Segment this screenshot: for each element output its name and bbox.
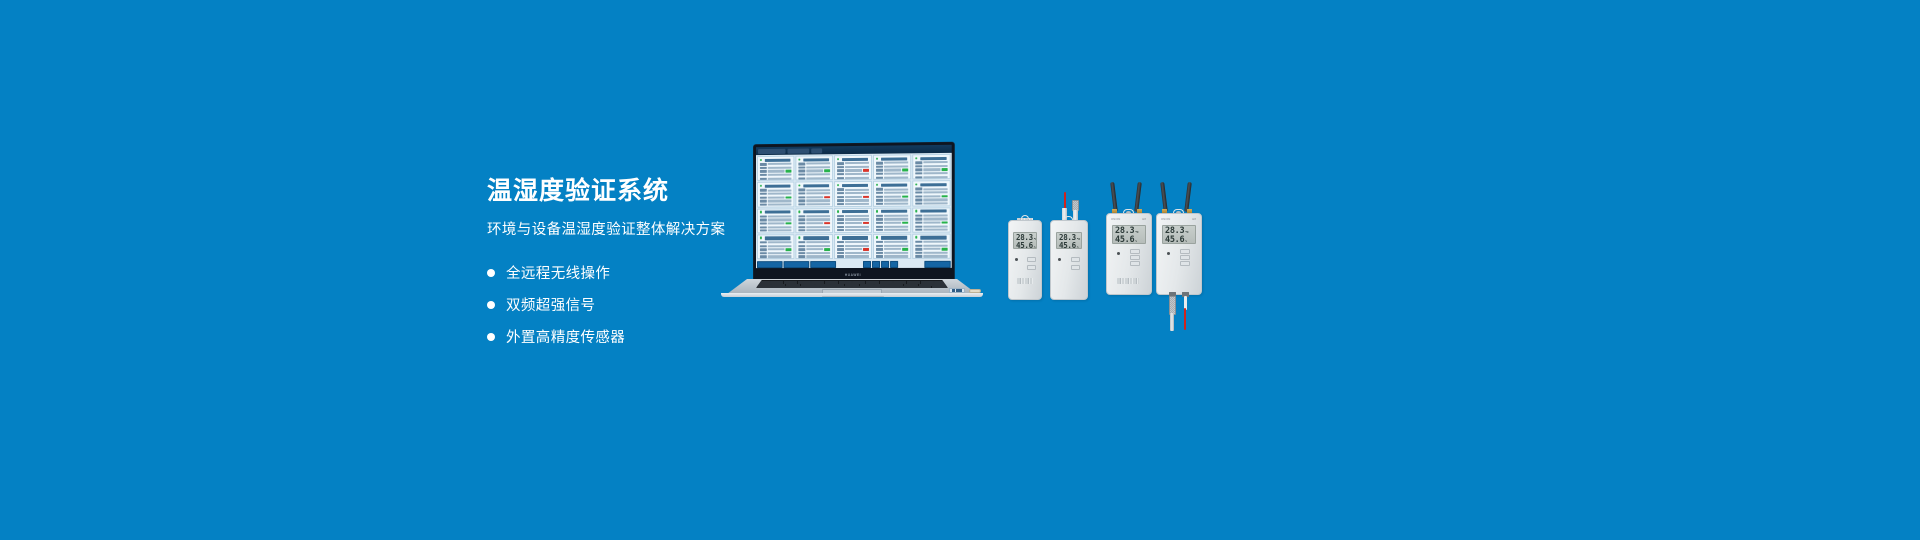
sensor-field-label	[876, 222, 883, 224]
pagination-button[interactable]	[872, 261, 880, 268]
lcd-humidity-row: 45.6 %	[1165, 236, 1193, 245]
sensor-status-dot-icon	[876, 236, 879, 239]
sensor-card[interactable]	[912, 207, 950, 233]
sensor-field-label	[915, 255, 922, 257]
sensor-field-label	[837, 196, 844, 198]
lcd-temperature-unit: ℃	[1135, 231, 1138, 234]
sensor-field-value	[923, 165, 947, 167]
sensor-field-label	[876, 162, 883, 164]
sensor-field-label	[798, 255, 805, 257]
bottom-action-button[interactable]	[784, 261, 810, 268]
sensor-field-value	[845, 188, 869, 190]
keyboard-key[interactable]	[804, 286, 819, 287]
lcd-humidity-unit: %	[1185, 240, 1187, 243]
sensor-field-value	[806, 256, 830, 258]
sensor-field-label	[915, 188, 922, 190]
sensor-card-title	[881, 157, 907, 161]
lcd-humidity-unit: %	[1077, 246, 1079, 249]
device-button-up[interactable]	[1180, 249, 1190, 254]
sensor-card-title	[803, 210, 829, 214]
sensor-field-label	[837, 199, 844, 201]
app-bottom-bar	[756, 260, 952, 268]
sensor-field-value	[845, 229, 869, 231]
sensor-card[interactable]	[873, 207, 911, 233]
sensor-field-value	[884, 199, 908, 201]
sensor-field-label	[837, 248, 844, 250]
device-dual-band-logger-internal: ON/ON H8 28.3 ℃ 45.6 %	[1106, 182, 1152, 295]
sensor-field-value	[923, 191, 947, 193]
sensor-field-value	[923, 176, 947, 178]
sensor-card-title	[765, 237, 791, 240]
laptop-product-image: HUAWEI	[718, 143, 986, 298]
sensor-card-title	[842, 236, 868, 239]
sensor-card-row	[798, 176, 830, 179]
feature-label: 双频超强信号	[506, 294, 595, 315]
sensor-field-value	[884, 229, 908, 231]
brand-left-label: ON/ON	[1111, 218, 1121, 221]
sensor-field-value	[845, 241, 869, 243]
sensor-ok-badge	[942, 168, 948, 171]
sensor-card[interactable]	[912, 180, 950, 206]
brand-left-label: ON/ON	[1161, 218, 1171, 221]
sensor-status-dot-icon	[798, 158, 801, 161]
sensor-status-dot-icon	[759, 159, 762, 162]
sensor-field-label	[760, 163, 767, 165]
lcd-display: 28.3 ℃ 45.6 %	[1056, 232, 1082, 249]
sensor-card-row	[798, 255, 830, 258]
sensor-ok-badge	[902, 169, 908, 172]
sensor-card[interactable]	[834, 234, 872, 259]
sensor-field-label	[760, 196, 767, 198]
sensor-field-label	[876, 241, 883, 243]
sensor-field-label	[798, 245, 805, 247]
sensor-field-value	[923, 229, 947, 231]
device-brand-row: ON/ON H8	[1111, 218, 1146, 221]
keyboard-key[interactable]	[820, 286, 835, 287]
laptop-keyboard[interactable]	[756, 280, 948, 288]
sensor-field-label	[760, 248, 767, 250]
sensor-field-label	[837, 245, 844, 247]
sensor-grill-icon	[1017, 278, 1033, 284]
sensor-field-label	[798, 189, 805, 191]
sensor-ok-badge	[786, 248, 792, 251]
sensor-field-label	[798, 215, 805, 217]
sensor-field-value	[845, 169, 862, 171]
sensor-field-value	[845, 215, 869, 217]
device-button-up[interactable]	[1027, 257, 1036, 262]
sensor-card[interactable]	[834, 155, 872, 181]
sensor-ok-badge	[824, 170, 830, 173]
sensor-field-label	[798, 229, 805, 231]
sensor-card[interactable]	[834, 207, 872, 232]
sensor-field-value	[806, 189, 830, 191]
sensor-field-label	[876, 176, 883, 178]
sensor-field-label	[798, 192, 805, 194]
sticker-mark-icon	[952, 289, 955, 292]
sensor-field-value	[845, 245, 869, 247]
laptop-base-notch	[822, 296, 884, 298]
sensor-field-value	[845, 226, 869, 228]
pagination-button[interactable]	[862, 261, 870, 268]
sensor-card-row	[837, 248, 869, 251]
humidity-probe-tip	[1170, 313, 1174, 331]
sensor-field-label	[915, 222, 922, 224]
sensor-field-label	[915, 202, 922, 204]
sensor-card[interactable]	[757, 182, 794, 207]
keyboard-key[interactable]	[916, 286, 931, 287]
sensor-field-label	[876, 188, 883, 190]
device-button-down[interactable]	[1071, 265, 1080, 270]
sensor-field-label	[837, 222, 844, 224]
sensor-field-value	[923, 218, 947, 220]
sensor-card-title	[842, 184, 868, 188]
sensor-field-value	[923, 241, 947, 243]
sensor-field-value	[923, 244, 947, 246]
feature-label: 全远程无线操作	[506, 262, 610, 283]
sensor-field-label	[915, 165, 922, 167]
laptop-screen	[756, 145, 952, 268]
sensor-field-value	[768, 241, 792, 243]
lcd-temperature-unit: ℃	[1077, 238, 1080, 241]
sensor-card-title	[920, 156, 946, 160]
keyboard-key[interactable]	[868, 286, 883, 287]
sensor-field-value	[923, 172, 947, 174]
sensor-status-dot-icon	[837, 158, 840, 161]
lcd-humidity-value: 45.6	[1016, 242, 1033, 250]
sticker-mark-icon	[959, 289, 962, 292]
sensor-field-value	[768, 193, 792, 195]
sensor-field-label	[915, 161, 922, 163]
hanging-loop-icon	[1021, 215, 1029, 219]
red-wire	[1064, 192, 1066, 209]
sensor-field-label	[798, 196, 805, 198]
sensor-field-label	[798, 226, 805, 228]
toolbar-menu-item[interactable]	[787, 148, 809, 153]
keyboard-key[interactable]	[884, 286, 899, 287]
sensor-field-label	[760, 230, 767, 232]
sensor-field-value	[768, 203, 792, 205]
sensor-status-dot-icon	[876, 157, 879, 160]
sensor-field-label	[760, 177, 767, 179]
sensor-field-label	[915, 191, 922, 193]
status-led-icon	[1058, 258, 1061, 261]
sensor-card-row	[915, 228, 947, 231]
lcd-humidity-value: 45.6	[1165, 236, 1184, 245]
sensor-status-dot-icon	[798, 184, 801, 187]
bottom-action-button[interactable]	[810, 261, 836, 268]
lcd-temperature-unit: ℃	[1034, 238, 1037, 241]
sensor-ok-badge	[824, 248, 830, 251]
sensor-alarm-badge	[863, 248, 869, 251]
sensor-card-grid	[756, 153, 952, 260]
sensor-card-row	[876, 248, 908, 251]
status-led-icon	[1117, 252, 1120, 255]
sensor-alarm-badge	[863, 169, 869, 172]
bullet-dot-icon	[487, 269, 495, 277]
device-button-down[interactable]	[1130, 261, 1140, 266]
sensor-field-value	[923, 252, 947, 254]
sensor-field-label	[876, 165, 883, 167]
lcd-humidity-unit: %	[1034, 246, 1036, 249]
sensor-card-row	[915, 202, 947, 205]
sensor-field-label	[760, 189, 767, 191]
sensor-field-label	[837, 203, 844, 205]
sensor-card[interactable]	[757, 208, 794, 233]
sensor-field-value	[768, 170, 785, 172]
sensor-field-value	[845, 177, 869, 179]
sensor-field-value	[806, 219, 830, 221]
laptop-bezel-chin: HUAWEI	[756, 271, 952, 279]
sensor-field-label	[798, 163, 805, 165]
sensor-field-label	[837, 215, 844, 217]
sensor-field-label	[760, 170, 767, 172]
sensor-card[interactable]	[873, 234, 911, 259]
sensor-field-value	[806, 173, 830, 175]
toolbar-menu-item[interactable]	[758, 148, 786, 153]
sensor-card-row	[876, 202, 908, 205]
keyboard-key[interactable]	[932, 286, 947, 287]
sensor-field-value	[806, 170, 823, 172]
laptop-lid: HUAWEI	[753, 142, 955, 282]
sensor-card-row	[915, 248, 947, 251]
sensor-ok-badge	[902, 222, 908, 225]
sensor-card[interactable]	[795, 181, 833, 206]
sensor-field-value	[768, 215, 792, 217]
sensor-card[interactable]	[795, 234, 833, 259]
sensor-field-label	[837, 169, 844, 171]
sensor-field-label	[798, 252, 805, 254]
sensor-field-value	[884, 225, 908, 227]
sensor-card-row	[760, 177, 792, 180]
sticker-mark-icon	[956, 289, 959, 292]
keyboard-key[interactable]	[788, 286, 803, 287]
sensor-field-value	[768, 200, 792, 202]
sensor-field-label	[837, 189, 844, 191]
sensor-card-title	[842, 157, 868, 161]
sensor-field-label	[798, 177, 805, 179]
lcd-humidity-value: 45.6	[1059, 242, 1076, 250]
sensor-field-label	[798, 248, 805, 250]
sensor-field-label	[876, 218, 883, 220]
sensor-card-row	[915, 255, 947, 258]
sensor-field-label	[837, 241, 844, 243]
sensor-card-row	[760, 255, 792, 258]
sensor-card[interactable]	[757, 156, 794, 181]
device-data-logger-with-probe: 28.3 ℃ 45.6 %	[1050, 192, 1088, 300]
sensor-field-label	[915, 248, 922, 250]
toolbar-menu-item[interactable]	[811, 148, 822, 153]
sensor-field-value	[923, 225, 947, 227]
pagination-button[interactable]	[890, 261, 898, 268]
sensor-status-dot-icon	[915, 210, 918, 213]
device-button-set[interactable]	[1130, 255, 1140, 260]
brand-right-label: H8	[1142, 218, 1146, 221]
sensor-card-title	[803, 158, 829, 162]
sensor-field-value	[884, 222, 901, 224]
sensor-field-value	[845, 192, 869, 194]
sensor-field-label	[837, 192, 844, 194]
sensor-field-label	[876, 229, 883, 231]
sensor-field-label	[876, 225, 883, 227]
sensor-field-label	[876, 244, 883, 246]
sensor-card-row	[760, 248, 792, 251]
sensor-card-title	[842, 210, 868, 214]
sensor-status-dot-icon	[915, 157, 918, 160]
sensor-card-title	[765, 184, 791, 188]
sensor-field-value	[806, 192, 830, 194]
sensor-field-value	[923, 161, 947, 163]
sensor-card-title	[881, 236, 907, 240]
sensor-field-value	[884, 252, 908, 254]
sensor-field-value	[768, 245, 792, 247]
sensor-field-value	[768, 256, 792, 258]
bottom-action-button[interactable]	[757, 261, 783, 268]
sensor-field-label	[760, 222, 767, 224]
sensor-field-value	[884, 169, 901, 171]
sensor-card-row	[760, 203, 792, 206]
sensor-status-dot-icon	[759, 211, 762, 214]
antenna-left-icon	[1110, 182, 1118, 212]
sensor-field-label	[760, 200, 767, 202]
sensor-alarm-badge	[824, 222, 830, 225]
sensor-status-dot-icon	[837, 236, 840, 239]
sensor-field-value	[806, 248, 823, 250]
sensor-field-value	[884, 195, 901, 197]
sensor-field-label	[876, 255, 883, 257]
sensor-status-dot-icon	[798, 210, 801, 213]
sensor-field-label	[915, 176, 922, 178]
sensor-field-label	[837, 226, 844, 228]
sensor-field-value	[845, 173, 869, 175]
sensor-field-value	[806, 177, 830, 179]
sensor-field-label	[798, 203, 805, 205]
sensor-card[interactable]	[757, 234, 794, 259]
sensor-field-label	[837, 162, 844, 164]
sensor-card-row	[876, 251, 908, 254]
sensor-field-value	[768, 163, 792, 165]
sensor-card[interactable]	[795, 208, 833, 233]
brand-right-label: H8	[1192, 218, 1196, 221]
sensor-status-dot-icon	[759, 185, 762, 188]
sensor-field-label	[760, 203, 767, 205]
keyboard-key[interactable]	[900, 286, 915, 287]
sensor-field-value	[806, 241, 830, 243]
sensor-card-title	[803, 236, 829, 239]
sensor-field-value	[806, 203, 830, 205]
device-button-down[interactable]	[1180, 261, 1190, 266]
sensor-status-dot-icon	[759, 237, 762, 240]
sensor-field-label	[876, 203, 883, 205]
sensor-card-row	[760, 229, 792, 232]
sensor-field-label	[798, 173, 805, 175]
pagination-button[interactable]	[881, 261, 889, 268]
sensor-field-value	[923, 222, 940, 224]
sensor-card[interactable]	[873, 181, 911, 207]
sensor-ok-badge	[786, 196, 792, 199]
device-button-down[interactable]	[1027, 265, 1036, 270]
probe-cable-red	[1184, 308, 1186, 330]
lcd-humidity-value: 45.6	[1115, 236, 1134, 245]
sensor-field-value	[768, 219, 792, 221]
sensor-field-value	[923, 169, 940, 171]
sensor-ok-badge	[786, 222, 792, 225]
sensor-field-value	[884, 176, 908, 178]
sensor-card-title	[765, 210, 791, 214]
device-button-up[interactable]	[1071, 257, 1080, 262]
sensor-field-label	[837, 255, 844, 257]
lcd-humidity-unit: %	[1135, 240, 1137, 243]
sensor-field-value	[768, 167, 792, 169]
sensor-card[interactable]	[795, 155, 833, 181]
sensor-card-row	[876, 229, 908, 232]
sensor-field-value	[806, 200, 830, 202]
sensor-field-value	[806, 163, 830, 165]
sensor-field-label	[798, 200, 805, 202]
sensor-field-value	[768, 252, 792, 254]
sensor-card-row	[798, 229, 830, 232]
sensor-field-value	[845, 203, 869, 205]
sensor-field-label	[798, 219, 805, 221]
sensor-field-value	[806, 245, 830, 247]
sensor-field-label	[876, 199, 883, 201]
device-button-set[interactable]	[1180, 255, 1190, 260]
sensor-card-title	[803, 184, 829, 188]
sensor-card-title	[920, 209, 946, 213]
lcd-display: 28.3 ℃ 45.6 %	[1013, 232, 1037, 249]
sensor-field-label	[837, 229, 844, 231]
sensor-field-value	[923, 202, 947, 204]
sensor-field-label	[915, 214, 922, 216]
keyboard-key[interactable]	[772, 286, 787, 287]
keyboard-key[interactable]	[836, 286, 851, 287]
lcd-display: 28.3 ℃ 45.6 %	[1162, 225, 1196, 244]
laptop-base	[718, 279, 986, 298]
keyboard-row	[757, 286, 948, 287]
sensor-alarm-badge	[863, 195, 869, 198]
sensor-field-label	[915, 218, 922, 220]
sensor-field-label	[915, 172, 922, 174]
hero-banner: 温湿度验证系统 环境与设备温湿度验证整体解决方案 全远程无线操作 双频超强信号 …	[0, 0, 1920, 540]
sensor-field-value	[884, 245, 908, 247]
sensor-card[interactable]	[834, 181, 872, 207]
device-button-up[interactable]	[1130, 249, 1140, 254]
sensor-card[interactable]	[912, 154, 950, 180]
sensor-field-value	[768, 248, 785, 250]
sensor-alarm-badge	[863, 222, 869, 225]
sensor-field-value	[884, 218, 908, 220]
sensor-status-dot-icon	[876, 184, 879, 187]
sensor-field-value	[884, 255, 908, 257]
sensor-field-value	[845, 248, 862, 250]
sensor-field-label	[876, 195, 883, 197]
sensor-ok-badge	[786, 170, 792, 173]
sensor-field-value	[884, 165, 908, 167]
sensor-card[interactable]	[912, 233, 950, 259]
sensor-field-value	[884, 173, 908, 175]
sensor-field-label	[915, 225, 922, 227]
sensor-card[interactable]	[873, 154, 911, 180]
sensor-field-label	[915, 169, 922, 171]
sensor-field-label	[760, 252, 767, 254]
keyboard-key[interactable]	[852, 286, 867, 287]
bottom-right-button[interactable]	[924, 261, 950, 268]
device-dual-band-logger-external-probe: ON/ON H8 28.3 ℃ 45.6 %	[1156, 182, 1202, 332]
keyboard-key[interactable]	[757, 286, 772, 287]
status-led-icon	[1015, 258, 1018, 261]
sensor-status-dot-icon	[915, 236, 918, 239]
sensor-card-title	[881, 183, 907, 187]
sensor-field-label	[798, 170, 805, 172]
